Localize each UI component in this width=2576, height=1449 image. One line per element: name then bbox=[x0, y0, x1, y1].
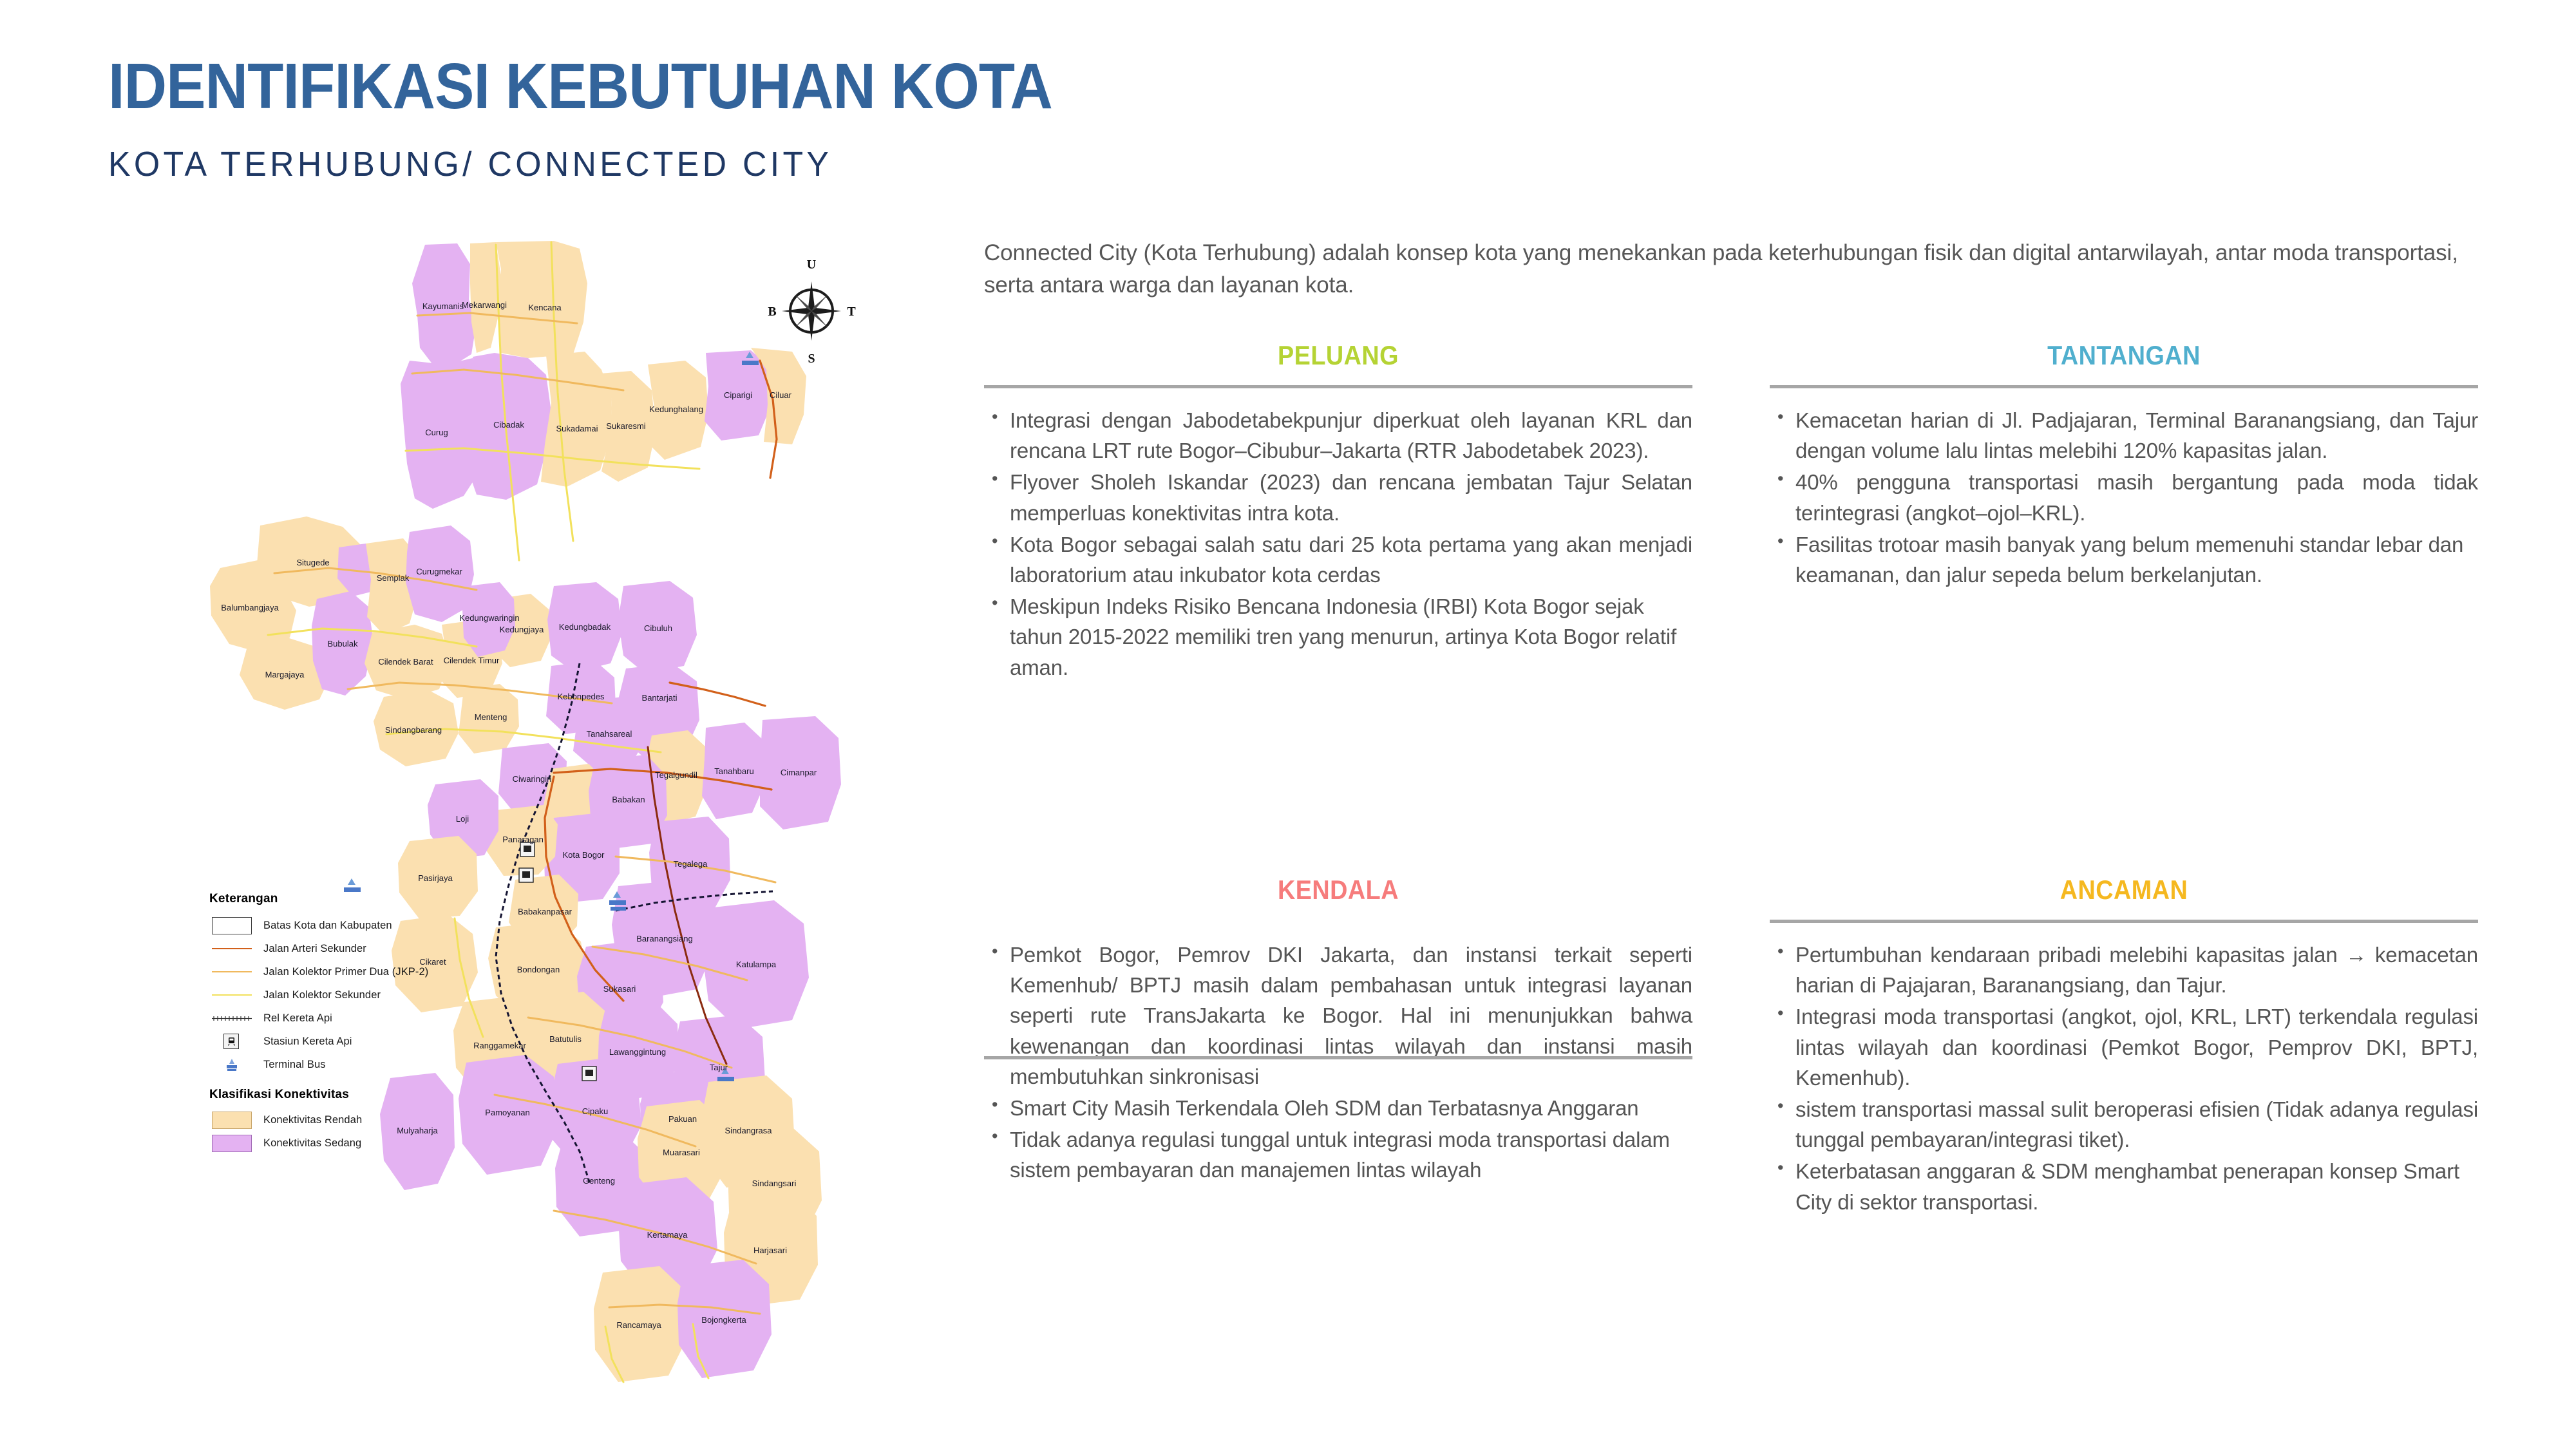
svg-text:Baranangsiang: Baranangsiang bbox=[636, 934, 692, 943]
ancaman-list: Pertumbuhan kendaraan pribadi melebihi k… bbox=[1770, 940, 2478, 1217]
list-item: 40% pengguna transportasi masih bergantu… bbox=[1770, 467, 2478, 527]
train-station-icon bbox=[209, 1034, 263, 1049]
svg-text:Kebonpedes: Kebonpedes bbox=[557, 692, 605, 701]
list-item: Fasilitas trotoar masih banyak yang belu… bbox=[1770, 529, 2478, 590]
svg-text:Genteng: Genteng bbox=[583, 1176, 615, 1186]
list-item: Smart City Masih Terkendala Oleh SDM dan… bbox=[984, 1093, 1692, 1123]
compass-north-label: U bbox=[807, 258, 816, 272]
bus-terminal-icon bbox=[209, 1057, 263, 1072]
legend-label: Konektivitas Sedang bbox=[263, 1137, 361, 1150]
compass-west-label: B bbox=[768, 305, 776, 319]
svg-text:Panaragan: Panaragan bbox=[502, 835, 544, 844]
tantangan-column: TANTANGAN Kemacetan harian di Jl. Padjaj… bbox=[1770, 340, 2478, 684]
svg-text:Sindangbarang: Sindangbarang bbox=[385, 725, 442, 735]
svg-text:Cibadak: Cibadak bbox=[493, 420, 524, 430]
compass-east-label: T bbox=[847, 305, 856, 319]
peluang-heading: PELUANG bbox=[1019, 340, 1657, 371]
svg-text:Rancamaya: Rancamaya bbox=[616, 1320, 661, 1330]
svg-text:Tanahsareal: Tanahsareal bbox=[587, 729, 632, 739]
svg-text:Curugmekar: Curugmekar bbox=[416, 567, 462, 576]
svg-text:Kedungbadak: Kedungbadak bbox=[559, 622, 611, 632]
compass-rose: U T S B bbox=[763, 254, 860, 367]
svg-text:Bojongkerta: Bojongkerta bbox=[701, 1315, 746, 1325]
kendala-column: KENDALA Pemkot Bogor, Pemrov DKI Jakarta… bbox=[984, 875, 1692, 1218]
kendala-list: Pemkot Bogor, Pemrov DKI Jakarta, dan in… bbox=[984, 940, 1692, 1186]
svg-text:Situgede: Situgede bbox=[296, 558, 329, 567]
intro-section: Connected City (Kota Terhubung) adalah k… bbox=[984, 237, 2478, 301]
svg-text:Ranggamekar: Ranggamekar bbox=[473, 1041, 526, 1050]
svg-text:Babakanpasar: Babakanpasar bbox=[518, 907, 573, 916]
svg-text:Loji: Loji bbox=[456, 814, 469, 824]
svg-text:Bantarjati: Bantarjati bbox=[642, 693, 677, 703]
list-item: Tidak adanya regulasi tunggal untuk inte… bbox=[984, 1124, 1692, 1185]
svg-text:Kota Bogor: Kota Bogor bbox=[562, 850, 605, 860]
svg-text:Cipaku: Cipaku bbox=[582, 1106, 608, 1116]
svg-text:Cimanpar: Cimanpar bbox=[781, 768, 817, 777]
svg-text:Muarasari: Muarasari bbox=[663, 1148, 700, 1157]
page-subtitle: KOTA TERHUBUNG/ CONNECTED CITY bbox=[108, 147, 2334, 182]
legend-item-railway: Rel Kereta Api bbox=[209, 1007, 480, 1030]
legend-item-collector-primary: Jalan Kolektor Primer Dua (JKP-2) bbox=[209, 960, 480, 983]
svg-text:Semplak: Semplak bbox=[377, 573, 410, 583]
svg-text:Kedungwaringin: Kedungwaringin bbox=[459, 613, 519, 623]
list-item: Keterbatasan anggaran & SDM menghambat p… bbox=[1770, 1156, 2478, 1217]
svg-text:Pasirjaya: Pasirjaya bbox=[418, 873, 453, 883]
svg-text:Kedungjaya: Kedungjaya bbox=[500, 625, 544, 634]
svg-text:Tanahbaru: Tanahbaru bbox=[714, 766, 753, 776]
svg-text:Katulampa: Katulampa bbox=[736, 960, 777, 969]
svg-text:Curug: Curug bbox=[425, 428, 448, 437]
ancaman-divider bbox=[1770, 920, 2478, 923]
swot-bottom-row: KENDALA Pemkot Bogor, Pemrov DKI Jakarta… bbox=[984, 875, 2478, 1218]
legend-label: Batas Kota dan Kabupaten bbox=[263, 920, 392, 932]
slide-header: IDENTIFIKASI KEBUTUHAN KOTA KOTA TERHUBU… bbox=[108, 54, 2427, 182]
svg-text:Bondongan: Bondongan bbox=[517, 965, 560, 974]
legend-item-connectivity-medium: Konektivitas Sedang bbox=[209, 1132, 480, 1155]
svg-text:Babakan: Babakan bbox=[612, 795, 645, 804]
low-connectivity-swatch bbox=[209, 1112, 263, 1129]
svg-text:Tegalgundil: Tegalgundil bbox=[655, 770, 697, 780]
medium-connectivity-swatch bbox=[209, 1135, 263, 1152]
list-item: Pertumbuhan kendaraan pribadi melebihi k… bbox=[1770, 940, 2478, 1000]
legend-label: Jalan Arteri Sekunder bbox=[263, 943, 366, 955]
svg-text:Ciwaringin: Ciwaringin bbox=[513, 774, 552, 784]
legend-item-arterial-road: Jalan Arteri Sekunder bbox=[209, 937, 480, 960]
kendala-divider bbox=[984, 1056, 1692, 1059]
legend-item-bus-terminal: Terminal Bus bbox=[209, 1053, 480, 1076]
svg-text:Lawanggintung: Lawanggintung bbox=[609, 1047, 666, 1057]
legend-label: Stasiun Kereta Api bbox=[263, 1036, 352, 1048]
svg-text:Ciluar: Ciluar bbox=[770, 390, 792, 400]
svg-text:Sukadamai: Sukadamai bbox=[556, 424, 598, 433]
ancaman-heading: ANCAMAN bbox=[1805, 875, 2443, 905]
svg-text:Sindangsari: Sindangsari bbox=[752, 1179, 797, 1188]
svg-text:Cilendek Timur: Cilendek Timur bbox=[444, 656, 500, 665]
svg-text:Batutulis: Batutulis bbox=[549, 1034, 582, 1044]
svg-text:Sukaresmi: Sukaresmi bbox=[606, 421, 646, 431]
svg-text:Sindangrasa: Sindangrasa bbox=[725, 1126, 773, 1135]
legend-classification-title: Klasifikasi Konektivitas bbox=[209, 1088, 480, 1102]
legend-item-connectivity-low: Konektivitas Rendah bbox=[209, 1108, 480, 1132]
legend-label: Rel Kereta Api bbox=[263, 1012, 332, 1025]
swot-top-row: PELUANG Integrasi dengan Jabodetabekpunj… bbox=[984, 340, 2478, 684]
legend-item-train-station: Stasiun Kereta Api bbox=[209, 1030, 480, 1053]
intro-paragraph: Connected City (Kota Terhubung) adalah k… bbox=[984, 237, 2478, 301]
legend-item-collector-secondary: Jalan Kolektor Sekunder bbox=[209, 983, 480, 1007]
legend-item-boundary: Batas Kota dan Kabupaten bbox=[209, 914, 480, 937]
svg-text:Margajaya: Margajaya bbox=[265, 670, 305, 679]
svg-text:Cibuluh: Cibuluh bbox=[644, 623, 672, 633]
railway-line-icon bbox=[209, 1016, 263, 1021]
legend-label: Jalan Kolektor Sekunder bbox=[263, 989, 381, 1001]
legend-title: Keterangan bbox=[209, 892, 480, 906]
svg-text:Menteng: Menteng bbox=[475, 712, 507, 722]
svg-text:Kayumanis: Kayumanis bbox=[422, 301, 464, 311]
svg-text:Kertamaya: Kertamaya bbox=[647, 1230, 688, 1240]
list-item: Kemacetan harian di Jl. Padjajaran, Term… bbox=[1770, 405, 2478, 466]
tantangan-divider bbox=[1770, 385, 2478, 388]
compass-south-label: S bbox=[808, 352, 815, 366]
list-item: Integrasi moda transportasi (angkot, ojo… bbox=[1770, 1001, 2478, 1093]
svg-text:Pamoyanan: Pamoyanan bbox=[485, 1108, 529, 1117]
svg-text:Ciparigi: Ciparigi bbox=[724, 390, 752, 400]
svg-text:Balumbangjaya: Balumbangjaya bbox=[221, 603, 279, 612]
tantangan-list: Kemacetan harian di Jl. Padjajaran, Term… bbox=[1770, 405, 2478, 590]
svg-text:Tajur: Tajur bbox=[710, 1063, 728, 1072]
peluang-divider bbox=[984, 385, 1692, 388]
arterial-line-icon bbox=[209, 948, 263, 949]
legend-label: Konektivitas Rendah bbox=[263, 1114, 362, 1126]
kendala-heading: KENDALA bbox=[1019, 875, 1657, 905]
svg-text:Sukasari: Sukasari bbox=[603, 984, 636, 994]
svg-text:Mekarwangi: Mekarwangi bbox=[462, 300, 507, 310]
svg-text:Bubulak: Bubulak bbox=[328, 639, 358, 649]
legend-label: Terminal Bus bbox=[263, 1059, 326, 1071]
list-item: sistem transportasi massal sulit beroper… bbox=[1770, 1094, 2478, 1155]
peluang-column: PELUANG Integrasi dengan Jabodetabekpunj… bbox=[984, 340, 1692, 684]
boundary-box-icon bbox=[209, 917, 263, 934]
collector-secondary-line-icon bbox=[209, 994, 263, 996]
svg-text:Tegalega: Tegalega bbox=[674, 859, 708, 869]
svg-text:Harjasari: Harjasari bbox=[753, 1245, 787, 1255]
list-item: Flyover Sholeh Iskandar (2023) dan renca… bbox=[984, 467, 1692, 527]
svg-text:Pakuan: Pakuan bbox=[668, 1114, 697, 1124]
svg-text:Kedunghalang: Kedunghalang bbox=[649, 404, 703, 414]
svg-text:Kencana: Kencana bbox=[528, 303, 562, 312]
list-item: Meskipun Indeks Risiko Bencana Indonesia… bbox=[984, 591, 1692, 683]
svg-text:Cilendek Barat: Cilendek Barat bbox=[378, 657, 433, 667]
connectivity-map: .lo { fill:#FBE0B0; } .md { fill:#E4B2F2… bbox=[193, 238, 985, 1404]
map-legend: Keterangan Batas Kota dan Kabupaten Jala… bbox=[209, 892, 480, 1155]
tantangan-heading: TANTANGAN bbox=[1805, 340, 2443, 371]
list-item: Integrasi dengan Jabodetabekpunjur diper… bbox=[984, 405, 1692, 466]
legend-label: Jalan Kolektor Primer Dua (JKP-2) bbox=[263, 966, 428, 978]
peluang-list: Integrasi dengan Jabodetabekpunjur diper… bbox=[984, 405, 1692, 683]
collector-primary-line-icon bbox=[209, 971, 263, 972]
list-item: Pemkot Bogor, Pemrov DKI Jakarta, dan in… bbox=[984, 940, 1692, 1092]
ancaman-column: ANCAMAN Pertumbuhan kendaraan pribadi me… bbox=[1770, 875, 2478, 1218]
page-title: IDENTIFIKASI KEBUTUHAN KOTA bbox=[108, 54, 2241, 118]
list-item: Kota Bogor sebagai salah satu dari 25 ko… bbox=[984, 529, 1692, 590]
